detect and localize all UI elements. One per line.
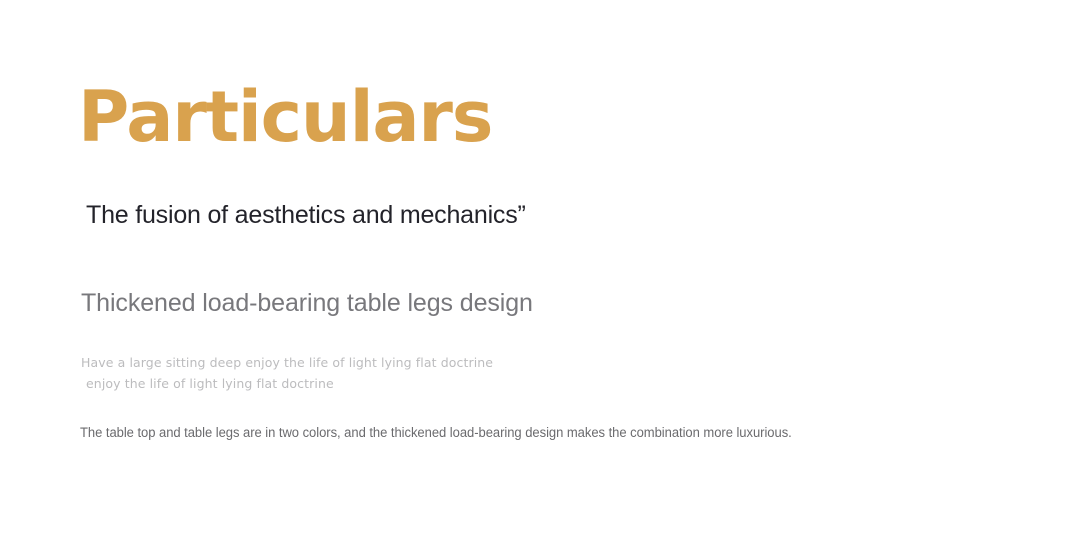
subtitle-text: The fusion of aesthetics and mechanics” [86,200,526,231]
section-heading: Thickened load-bearing table legs design [81,288,533,319]
page-title: Particulars [78,82,492,152]
note-line: enjoy the life of light lying flat doctr… [81,373,493,394]
slide-canvas: Particulars The fusion of aesthetics and… [0,0,1080,540]
footer-paragraph: The table top and table legs are in two … [80,423,871,443]
note-line: Have a large sitting deep enjoy the life… [81,352,493,373]
notes-block: Have a large sitting deep enjoy the life… [81,352,493,394]
